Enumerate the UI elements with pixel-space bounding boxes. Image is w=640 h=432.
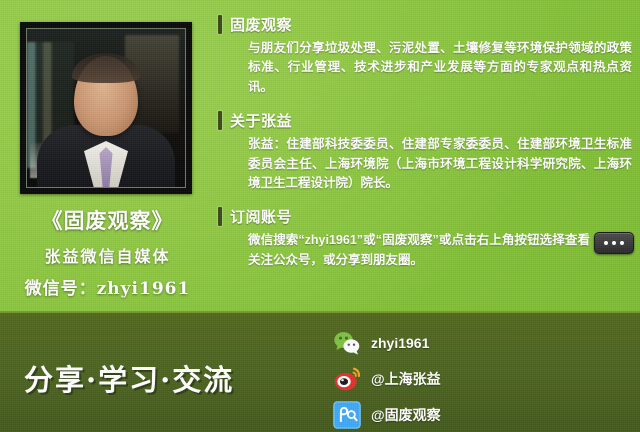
section-about-author: 关于张益 张益：住建部科技委委员、住建部专家委委员、住建部环境卫生标准委员会主任… — [218, 110, 636, 193]
section-header: 关于张益 — [218, 110, 636, 131]
more-options-button[interactable] — [594, 232, 634, 254]
section-title: 订阅账号 — [230, 206, 292, 227]
portrait-photo — [26, 28, 186, 188]
weibo-icon — [333, 365, 361, 393]
social-label: @上海张益 — [371, 369, 441, 389]
dot-icon — [604, 241, 608, 245]
footer-slogan: 分享·学习·交流 — [24, 357, 324, 399]
brand-title: 《固废观察》 — [0, 205, 215, 235]
accent-bar-icon — [218, 15, 222, 34]
social-row-tencent-weibo[interactable]: @固废观察 — [333, 397, 503, 432]
poster-canvas: 《固废观察》 张益微信自媒体 微信号：zhyi1961 固废观察 与朋友们分享垃… — [0, 0, 640, 432]
section-body: 张益：住建部科技委委员、住建部专家委委员、住建部环境卫生标准委员会主任、上海环境… — [248, 135, 636, 193]
wechat-icon — [333, 329, 361, 357]
section-header: 固废观察 — [218, 14, 636, 35]
left-column: 《固废观察》 张益微信自媒体 微信号：zhyi1961 — [0, 0, 215, 311]
section-title: 固废观察 — [230, 14, 292, 35]
social-row-wechat[interactable]: zhyi1961 — [333, 325, 503, 361]
dot-icon — [620, 241, 624, 245]
social-links-list: zhyi1961 @上海张益 — [333, 325, 503, 432]
section-body: 微信搜索“zhyi1961”或“固废观察”或点击右上角按钮选择查看关注公众号，或… — [248, 231, 636, 270]
accent-bar-icon — [218, 111, 222, 130]
sections-container: 固废观察 与朋友们分享垃圾处理、污泥处置、土壤修复等环境保护领域的政策标准、行业… — [218, 14, 636, 283]
dot-icon — [612, 241, 616, 245]
social-row-weibo[interactable]: @上海张益 — [333, 361, 503, 397]
section-subscribe: 订阅账号 微信搜索“zhyi1961”或“固废观察”或点击右上角按钮选择查看关注… — [218, 206, 636, 270]
tencent-weibo-icon — [333, 401, 361, 429]
brand-subtitle: 张益微信自媒体 — [0, 243, 215, 267]
social-label: @固废观察 — [371, 405, 441, 425]
section-header: 订阅账号 — [218, 206, 636, 227]
section-title: 关于张益 — [230, 110, 292, 131]
social-label: zhyi1961 — [371, 335, 429, 351]
footer-bar: 分享·学习·交流 zhyi1961 — [0, 311, 640, 432]
section-body: 与朋友们分享垃圾处理、污泥处置、土壤修复等环境保护领域的政策标准、行业管理、技术… — [248, 39, 636, 97]
accent-bar-icon — [218, 207, 222, 226]
brand-wechat-id: 微信号：zhyi1961 — [0, 274, 215, 299]
portrait-frame — [20, 22, 192, 194]
section-about-column: 固废观察 与朋友们分享垃圾处理、污泥处置、土壤修复等环境保护领域的政策标准、行业… — [218, 14, 636, 97]
